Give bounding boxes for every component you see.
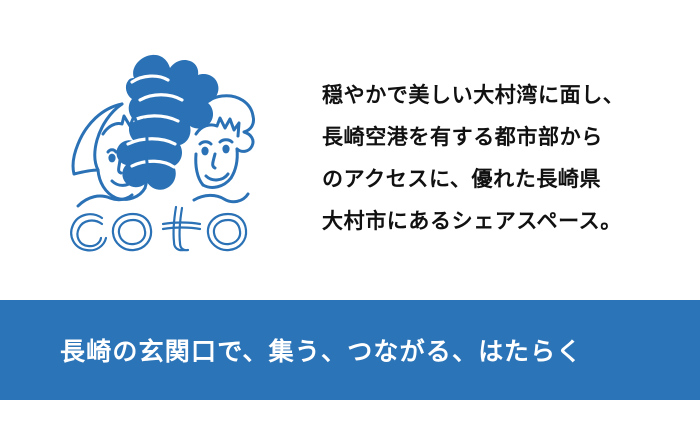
coto-logo [48,48,288,258]
coto-logo-mark-icon [48,48,288,208]
description-line-2: 長崎空港を有する都市部から [322,116,666,158]
promo-card: 穏やかで美しい大村湾に面し、 長崎空港を有する都市部から のアクセスに、優れた長… [0,0,700,435]
description-line-1: 穏やかで美しい大村湾に面し、 [322,74,666,116]
description-line-3: のアクセスに、優れた長崎県 [322,158,666,200]
description-text: 穏やかで美しい大村湾に面し、 長崎空港を有する都市部から のアクセスに、優れた長… [322,74,666,242]
tagline-text: 長崎の玄関口で、集う、つながる、はたらく [60,332,583,368]
tagline-banner: 長崎の玄関口で、集う、つながる、はたらく [0,300,700,400]
bottom-white-strip [0,400,700,435]
coto-wordmark [64,205,254,257]
hero-section: 穏やかで美しい大村湾に面し、 長崎空港を有する都市部から のアクセスに、優れた長… [0,0,700,300]
description-line-4: 大村市にあるシェアスペース。 [322,200,666,242]
